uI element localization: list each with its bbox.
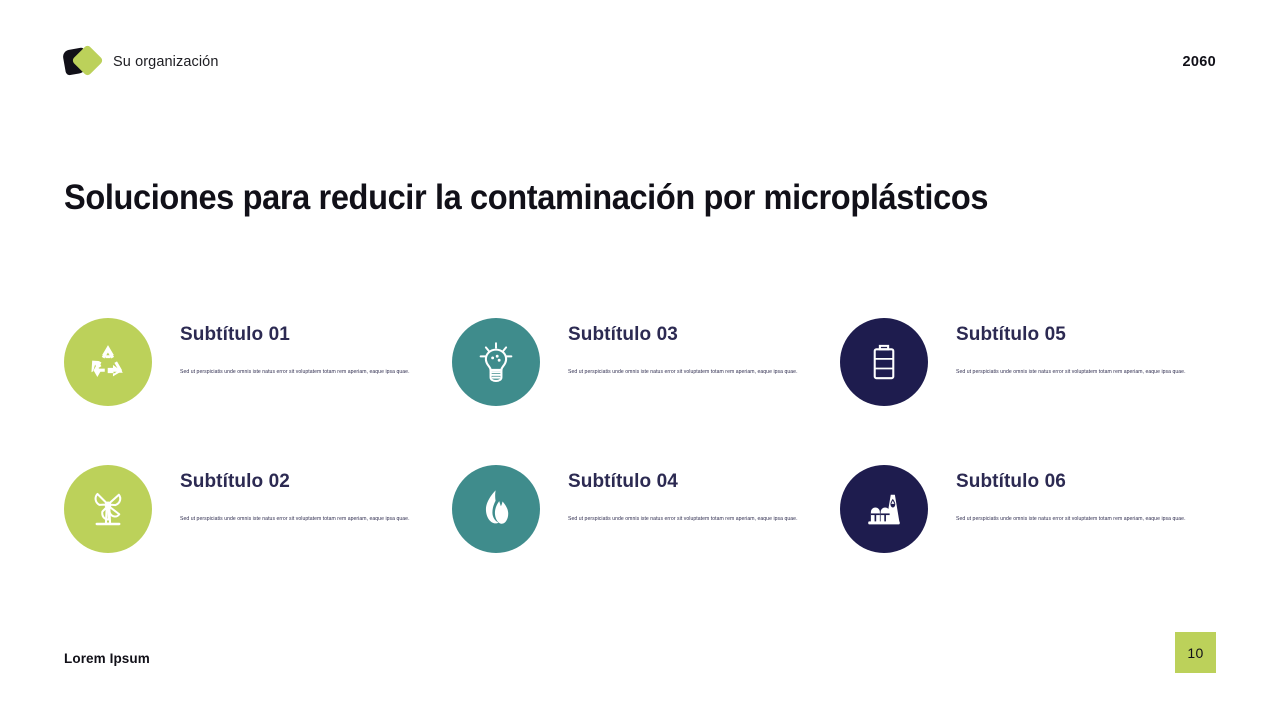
list-item-title: Subtítulo 01: [180, 324, 452, 346]
icon-badge-flame: [452, 465, 540, 553]
brand-name: Su organización: [113, 54, 219, 70]
list-item: Subtítulo 02 Sed ut perspiciatis unde om…: [64, 463, 452, 610]
list-item-description: Sed ut perspiciatis unde omnis iste natu…: [568, 369, 808, 376]
list-item-title: Subtítulo 03: [568, 324, 840, 346]
wind-turbine-icon: [84, 485, 132, 533]
list-item-title: Subtítulo 06: [956, 471, 1228, 493]
list-item: Subtítulo 06 Sed ut perspiciatis unde om…: [840, 463, 1228, 610]
footer-label: Lorem Ipsum: [64, 651, 150, 666]
list-item-text: Subtítulo 06 Sed ut perspiciatis unde om…: [928, 463, 1228, 523]
recycle-icon: [85, 339, 131, 385]
solutions-grid: Subtítulo 01 Sed ut perspiciatis unde om…: [64, 316, 1216, 610]
list-item-description: Sed ut perspiciatis unde omnis iste natu…: [956, 516, 1196, 523]
list-item-description: Sed ut perspiciatis unde omnis iste natu…: [568, 516, 808, 523]
list-item-text: Subtítulo 04 Sed ut perspiciatis unde om…: [540, 463, 840, 523]
list-item-text: Subtítulo 05 Sed ut perspiciatis unde om…: [928, 316, 1228, 376]
slide-header: Su organización 2060: [64, 44, 1216, 80]
list-item-description: Sed ut perspiciatis unde omnis iste natu…: [956, 369, 1196, 376]
list-item-description: Sed ut perspiciatis unde omnis iste natu…: [180, 516, 420, 523]
list-item: Subtítulo 03 Sed ut perspiciatis unde om…: [452, 316, 840, 463]
year-label: 2060: [1183, 54, 1216, 70]
flame-icon: [473, 486, 519, 532]
list-item: Subtítulo 05 Sed ut perspiciatis unde om…: [840, 316, 1228, 463]
list-item-title: Subtítulo 02: [180, 471, 452, 493]
icon-badge-wind-turbine: [64, 465, 152, 553]
list-item-text: Subtítulo 02 Sed ut perspiciatis unde om…: [152, 463, 452, 523]
page-number-badge: 10: [1175, 632, 1216, 673]
list-item-text: Subtítulo 01 Sed ut perspiciatis unde om…: [152, 316, 452, 376]
icon-badge-battery: [840, 318, 928, 406]
list-item-title: Subtítulo 05: [956, 324, 1228, 346]
icon-badge-recycle: [64, 318, 152, 406]
list-item-description: Sed ut perspiciatis unde omnis iste natu…: [180, 369, 420, 376]
list-item-title: Subtítulo 04: [568, 471, 840, 493]
battery-icon: [862, 340, 906, 384]
icon-badge-power-plant: [840, 465, 928, 553]
list-item-text: Subtítulo 03 Sed ut perspiciatis unde om…: [540, 316, 840, 376]
lightbulb-icon: [472, 338, 520, 386]
brand: Su organización: [64, 46, 219, 78]
logo-mark-icon: [64, 46, 102, 78]
slide-canvas: Su organización 2060 Soluciones para red…: [0, 0, 1280, 720]
page-title: Soluciones para reducir la contaminación…: [64, 178, 988, 218]
list-item: Subtítulo 04 Sed ut perspiciatis unde om…: [452, 463, 840, 610]
list-item: Subtítulo 01 Sed ut perspiciatis unde om…: [64, 316, 452, 463]
icon-badge-lightbulb: [452, 318, 540, 406]
power-plant-icon: [860, 485, 908, 533]
